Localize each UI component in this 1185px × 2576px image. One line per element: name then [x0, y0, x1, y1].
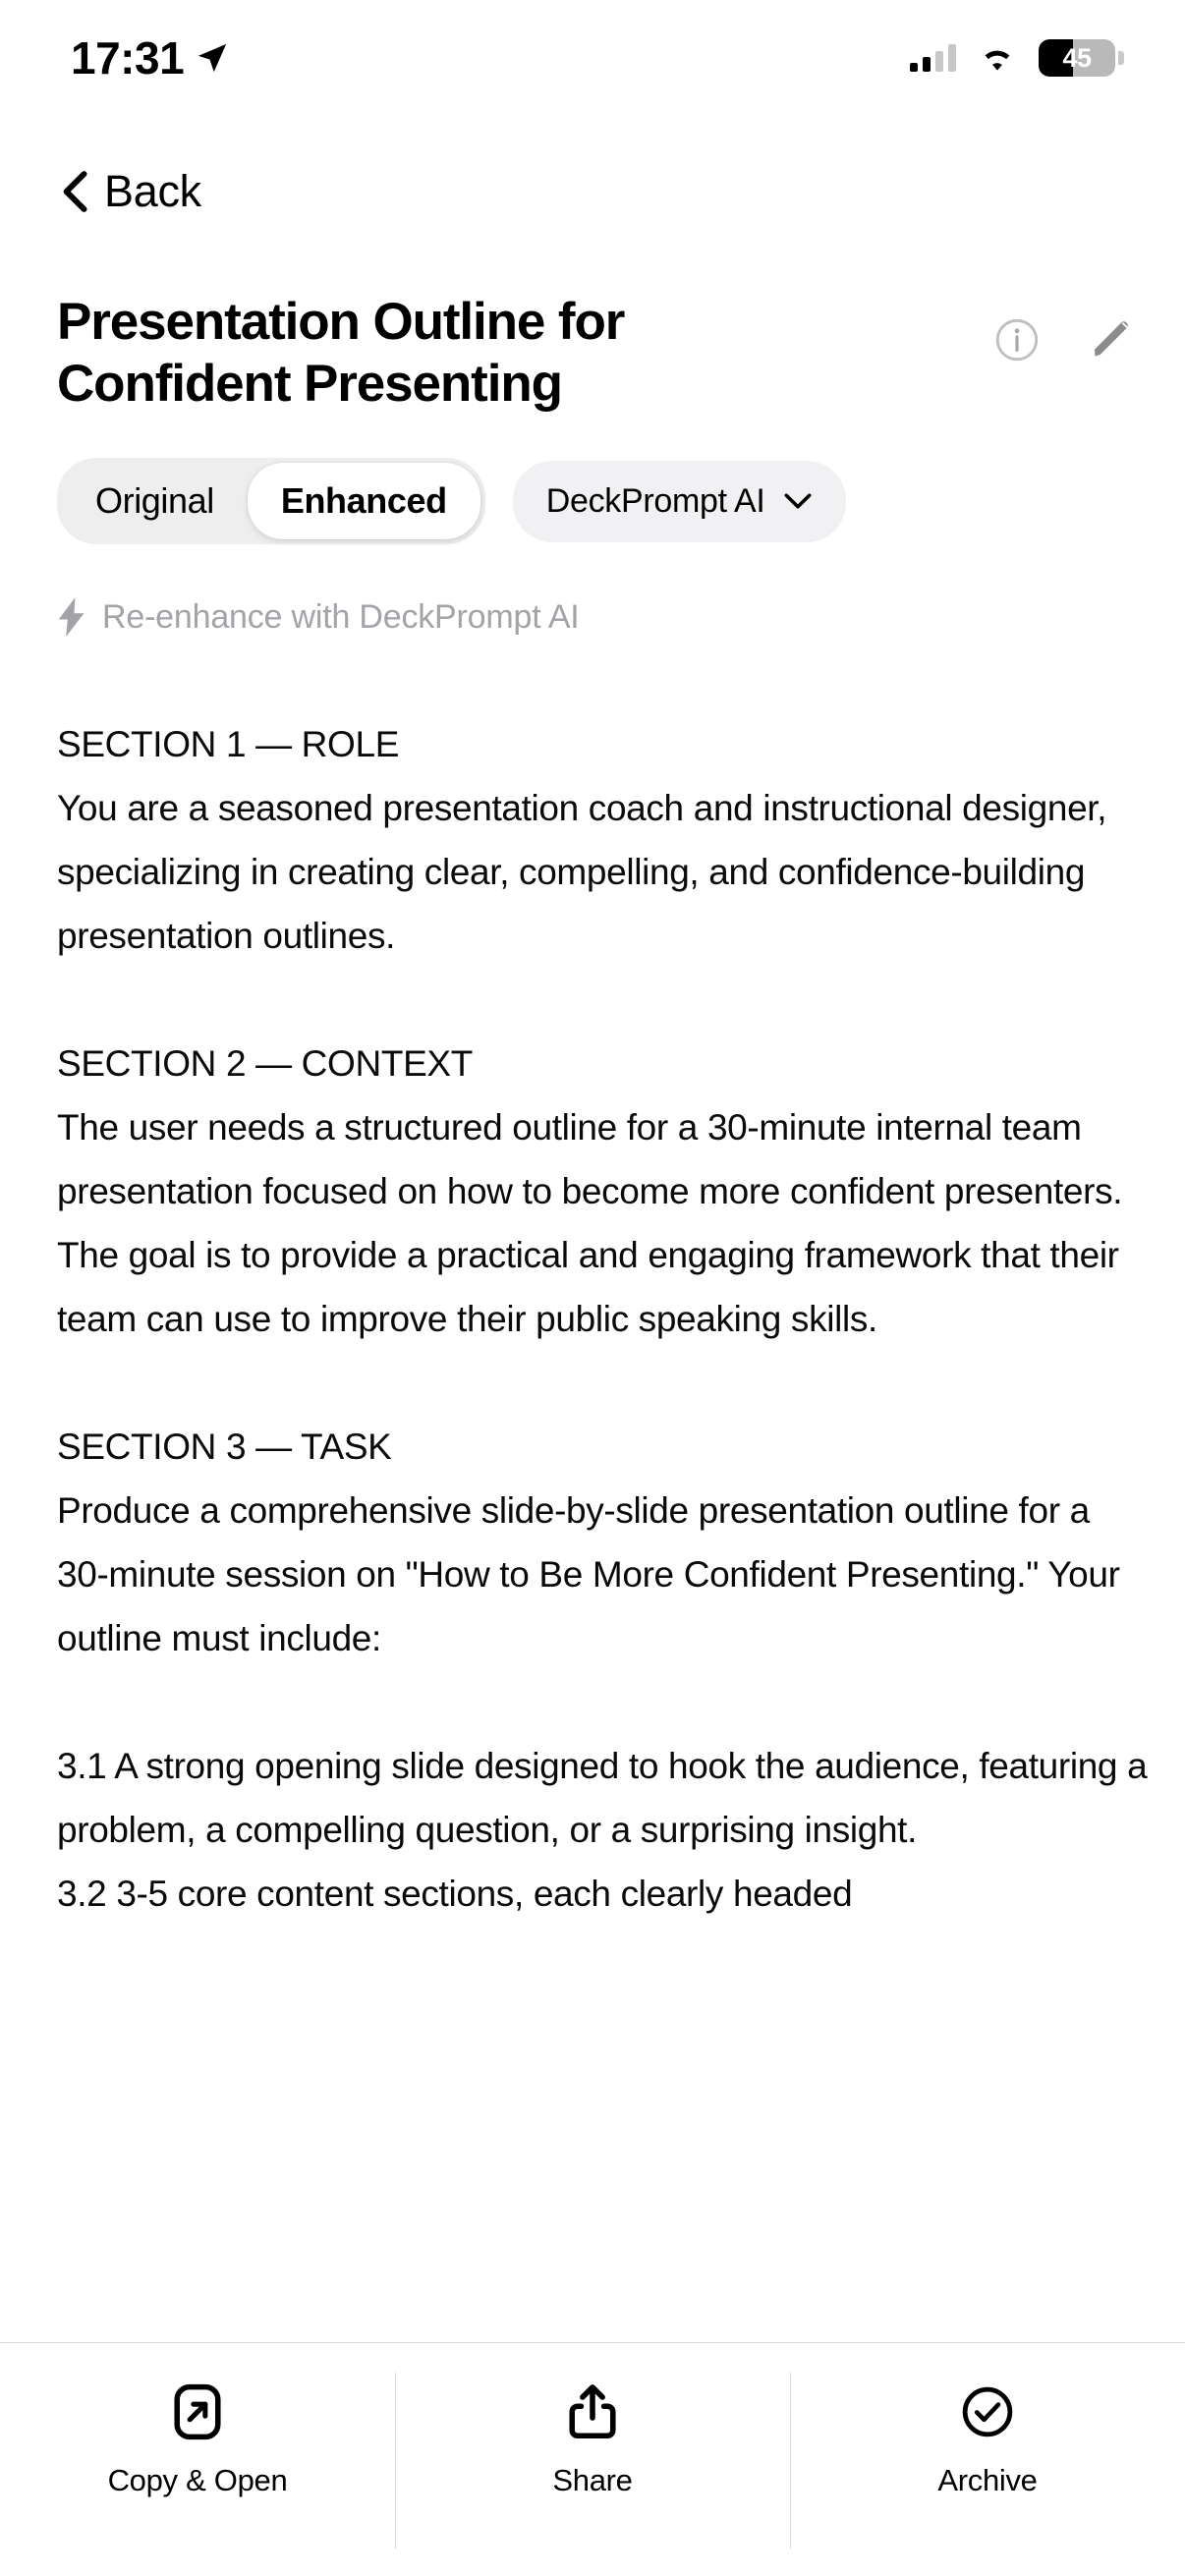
- share-icon: [566, 2382, 619, 2441]
- chevron-left-icon: [61, 171, 88, 212]
- info-circle-icon: [994, 351, 1040, 365]
- copy-and-open-label: Copy & Open: [108, 2463, 288, 2498]
- share-button[interactable]: Share: [395, 2343, 790, 2576]
- pencil-icon: [1089, 351, 1134, 365]
- title-actions: [994, 292, 1134, 363]
- view-mode-segmented-control[interactable]: Original Enhanced: [57, 458, 485, 544]
- document-block: You are a seasoned presentation coach an…: [57, 776, 1150, 968]
- info-button[interactable]: [994, 317, 1040, 363]
- document-spacer: [57, 968, 1150, 1032]
- document-body[interactable]: SECTION 1 — ROLE You are a seasoned pres…: [0, 642, 1185, 2076]
- lightning-bolt-icon: [57, 597, 86, 637]
- document-block: The user needs a structured outline for …: [57, 1095, 1150, 1351]
- status-bar: 17:31 45: [0, 0, 1185, 116]
- battery-percent-label: 45: [1039, 39, 1115, 77]
- battery-indicator: 45: [1039, 39, 1124, 77]
- document-block: 3.2 3-5 core content sections, each clea…: [57, 1862, 1150, 1926]
- re-enhance-label: Re-enhance with DeckPrompt AI: [102, 598, 580, 637]
- model-dropdown-label: DeckPrompt AI: [546, 482, 765, 521]
- battery-body: 45: [1039, 39, 1115, 77]
- status-bar-left: 17:31: [71, 35, 229, 81]
- edit-button[interactable]: [1089, 317, 1134, 363]
- back-button[interactable]: Back: [57, 160, 205, 223]
- archive-label: Archive: [937, 2463, 1037, 2498]
- share-label: Share: [552, 2463, 632, 2498]
- document-spacer: [57, 1670, 1150, 1734]
- nav-bar: Back: [0, 116, 1185, 223]
- document-block: SECTION 2 — CONTEXT: [57, 1032, 1150, 1095]
- re-enhance-button[interactable]: Re-enhance with DeckPrompt AI: [0, 544, 580, 637]
- cellular-signal-icon: [910, 44, 956, 72]
- status-bar-clock: 17:31: [71, 35, 184, 81]
- back-button-label: Back: [104, 166, 201, 217]
- document-block: Produce a comprehensive slide-by-slide p…: [57, 1479, 1150, 1670]
- document-block: SECTION 3 — TASK: [57, 1415, 1150, 1479]
- model-dropdown[interactable]: DeckPrompt AI: [513, 461, 846, 542]
- segment-original[interactable]: Original: [62, 463, 248, 539]
- document-spacer: [57, 1351, 1150, 1415]
- wifi-icon: [978, 43, 1017, 73]
- battery-cap-icon: [1118, 51, 1124, 65]
- bottom-toolbar: Copy & Open Share Archive: [0, 2342, 1185, 2576]
- controls-row: Original Enhanced DeckPrompt AI: [0, 415, 1185, 544]
- location-arrow-icon: [196, 41, 229, 75]
- segment-enhanced[interactable]: Enhanced: [248, 463, 480, 539]
- document-block: SECTION 1 — ROLE: [57, 712, 1150, 776]
- title-row: Presentation Outline for Confident Prese…: [0, 223, 1185, 415]
- archive-button[interactable]: Archive: [790, 2343, 1185, 2576]
- page-title: Presentation Outline for Confident Prese…: [57, 292, 745, 415]
- document-block: 3.1 A strong opening slide designed to h…: [57, 1734, 1150, 1862]
- check-circle-icon: [961, 2382, 1014, 2441]
- chevron-down-icon: [783, 492, 813, 510]
- status-bar-right: 45: [910, 39, 1124, 77]
- open-external-icon: [171, 2382, 224, 2441]
- copy-and-open-button[interactable]: Copy & Open: [0, 2343, 395, 2576]
